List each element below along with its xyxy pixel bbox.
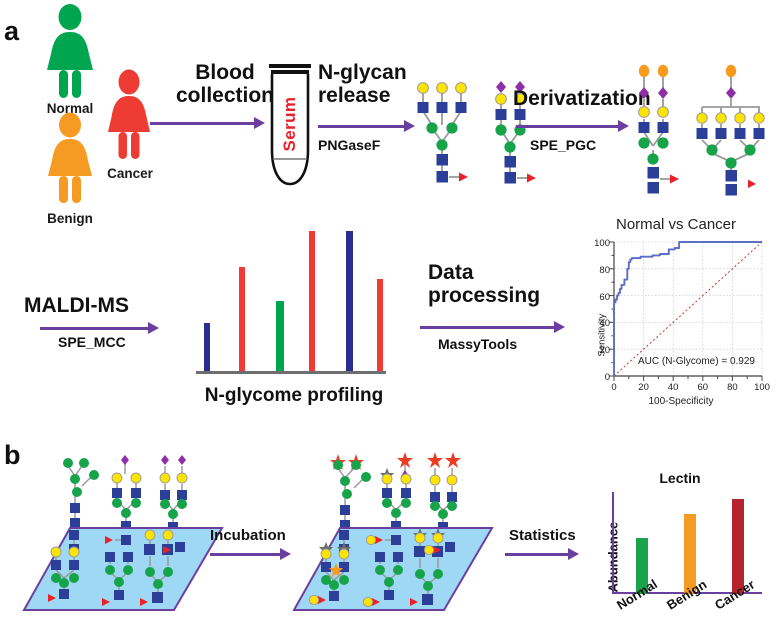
arrow-blood-collection bbox=[150, 122, 256, 125]
spectrum-peak-2 bbox=[239, 267, 245, 371]
roc-x-tick-40: 40 bbox=[663, 382, 683, 393]
cohort-benign bbox=[33, 113, 107, 207]
roc-y-tick-100: 100 bbox=[582, 238, 610, 249]
arrow-head-maldi-ms bbox=[148, 322, 159, 334]
serum-tube bbox=[262, 62, 318, 190]
spectrum-peak-5 bbox=[346, 231, 353, 371]
lectin-chart: Lectin Abundance Normal Benign Cancer bbox=[580, 470, 775, 625]
lectin-chart-title: Lectin bbox=[610, 470, 750, 486]
arrow-nglycan-release bbox=[318, 125, 406, 128]
arrow-data-processing bbox=[420, 326, 556, 329]
panel-letter-a: a bbox=[4, 16, 19, 47]
spectrum-peak-6 bbox=[377, 279, 383, 371]
arrow-incubation bbox=[210, 553, 282, 556]
spectrum-plot bbox=[196, 234, 386, 376]
panel-letter-b: b bbox=[4, 440, 21, 471]
person-icon-benign bbox=[33, 113, 107, 207]
glycan-structure-derivatized-biantennary bbox=[631, 62, 689, 188]
step-data-processing-title-line2: processing bbox=[428, 285, 540, 306]
roc-auc-annotation: AUC (N-Glycome) = 0.929 bbox=[638, 356, 755, 367]
roc-y-tick-60: 60 bbox=[582, 292, 610, 303]
arrow-head-incubation bbox=[280, 548, 291, 560]
arrow-head-statistics bbox=[568, 548, 579, 560]
spectrum-baseline bbox=[196, 371, 386, 374]
cohort-label-benign: Benign bbox=[12, 211, 128, 226]
lectin-array-bound bbox=[292, 450, 507, 615]
spectrum-peak-4 bbox=[309, 231, 315, 371]
roc-x-tick-80: 80 bbox=[722, 382, 742, 393]
step-data-processing-title-line1: Data bbox=[428, 262, 474, 283]
step-data-processing-sub: MassyTools bbox=[438, 336, 517, 352]
glycan-structure-released-triantennary bbox=[412, 78, 478, 188]
roc-x-tick-100: 100 bbox=[752, 382, 772, 393]
roc-x-tick-0: 0 bbox=[604, 382, 624, 393]
lectin-y-axis bbox=[612, 492, 614, 594]
roc-y-tick-80: 80 bbox=[582, 265, 610, 276]
roc-y-tick-40: 40 bbox=[582, 318, 610, 329]
arrow-maldi-ms bbox=[40, 327, 150, 330]
arrow-head-derivatization bbox=[618, 120, 629, 132]
glycan-structure-derivatized-tetraantennary bbox=[692, 62, 770, 188]
step-derivatization-sub: SPE_PGC bbox=[530, 137, 596, 153]
spectrum-peak-1 bbox=[204, 323, 210, 371]
roc-y-tick-20: 20 bbox=[582, 345, 610, 356]
figure-canvas: a Normal Cancer Benign Blood collection bbox=[0, 0, 777, 631]
step-maldi-ms-sub: SPE_MCC bbox=[58, 334, 126, 350]
spectrum-peak-3 bbox=[276, 301, 284, 371]
step-nglycan-release-sub: PNGaseF bbox=[318, 137, 380, 153]
spectrum-caption: N-glycome profiling bbox=[176, 385, 412, 407]
step-incubation-title: Incubation bbox=[210, 527, 286, 544]
arrow-head-data-processing bbox=[554, 321, 565, 333]
arrow-derivatization bbox=[516, 125, 620, 128]
step-maldi-ms-title: MALDI-MS bbox=[24, 295, 129, 316]
roc-plot: Normal vs Cancer Sensitivity 100-Specifi… bbox=[576, 216, 776, 412]
tube-icon bbox=[262, 62, 318, 190]
arrow-statistics bbox=[505, 553, 570, 556]
lectin-array-unbound bbox=[22, 450, 237, 615]
roc-x-tick-60: 60 bbox=[693, 382, 713, 393]
roc-x-tick-20: 20 bbox=[634, 382, 654, 393]
